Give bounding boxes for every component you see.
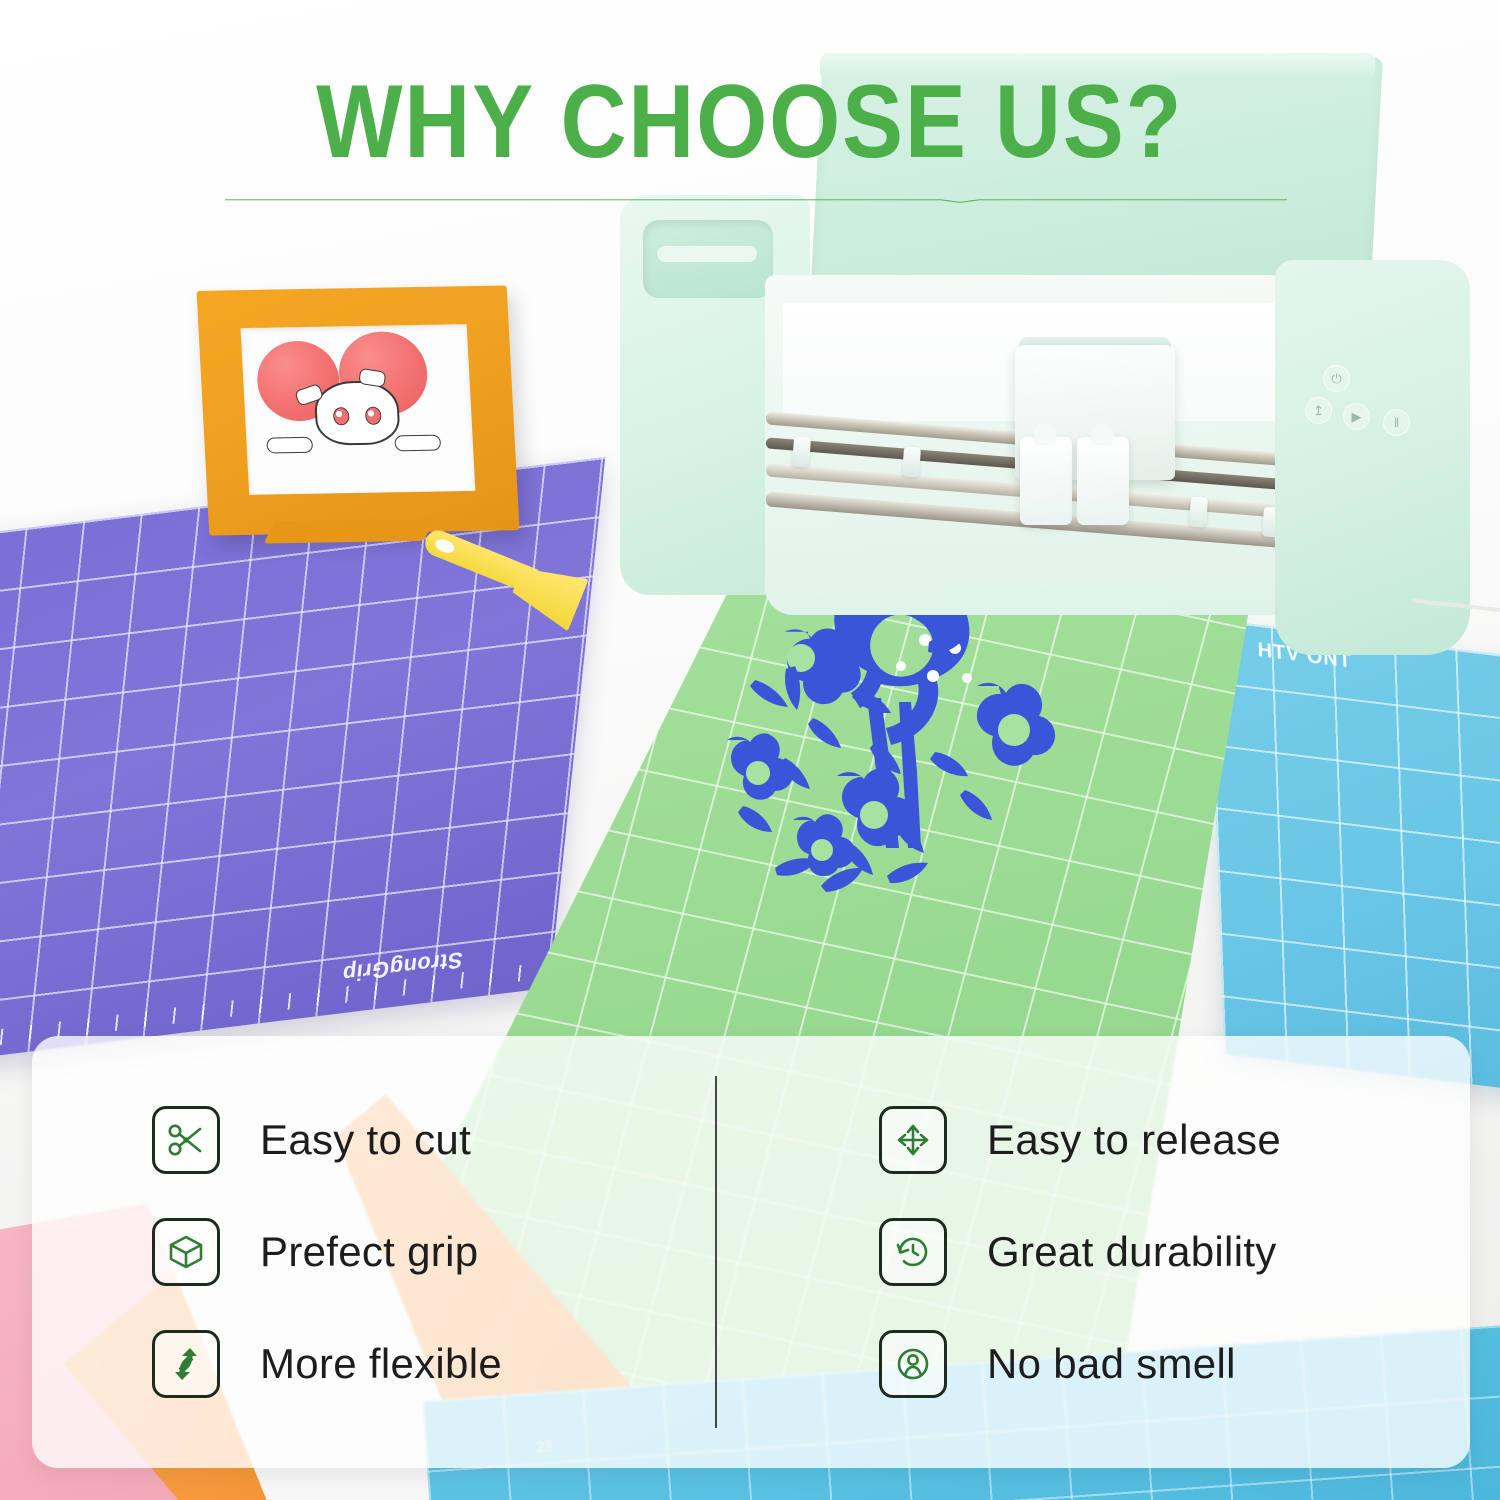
move-arrows-icon [879,1106,947,1174]
machine-handle [643,220,773,298]
hand-left [266,437,313,454]
pause-button[interactable]: ‖ [1383,409,1410,436]
feature-easy-to-cut[interactable]: Easy to cut [152,1106,751,1174]
load-unload-button[interactable]: ↥ [1305,397,1332,424]
product-infographic: StrongGrip HTV ONT HTV ONT StandardGrip [0,0,1500,1500]
history-clock-icon [879,1218,947,1286]
title-underline [225,199,1287,203]
machine-roller [902,446,921,477]
features-column-left: Easy to cut Prefect grip [32,1036,751,1468]
blade-clamp-a [1020,437,1072,525]
feature-more-flexible[interactable]: More flexible [152,1330,751,1398]
girl-face [313,380,400,445]
machine-roller [792,436,811,467]
feature-no-bad-smell[interactable]: No bad smell [879,1330,1470,1398]
power-button[interactable]: ⏻ [1323,365,1350,392]
feature-label: Easy to release [987,1116,1281,1164]
machine-roller [1189,496,1208,527]
features-panel: Easy to cut Prefect grip [32,1036,1470,1468]
feature-easy-to-release[interactable]: Easy to release [879,1106,1470,1174]
feature-label: No bad smell [987,1340,1236,1388]
features-column-right: Easy to release Great durability [751,1036,1470,1468]
orange-picture-frame [197,285,520,535]
box-icon [152,1218,220,1286]
page-title: WHY CHOOSE US? [316,70,1183,174]
feature-label: Great durability [987,1228,1277,1276]
feature-label: Prefect grip [260,1228,478,1276]
feature-great-durability[interactable]: Great durability [879,1218,1470,1286]
play-button[interactable]: ▶ [1343,403,1370,430]
eye-left [333,407,350,425]
flexible-arrows-icon [152,1330,220,1398]
frame-stand [263,519,435,544]
blade-clamp-b [1077,437,1129,525]
feature-prefect-grip[interactable]: Prefect grip [152,1218,751,1286]
machine-control-panel: ⏻ ↥ ▶ ‖ [1305,365,1435,455]
scissors-icon [152,1106,220,1174]
person-icon [879,1330,947,1398]
page-title-wrap: WHY CHOOSE US? [0,70,1500,174]
clamp-knob [1034,423,1056,445]
feature-label: Easy to cut [260,1116,471,1164]
frame-artwork [241,324,476,495]
feature-label: More flexible [260,1340,502,1388]
eye-right [365,407,382,425]
clamp-knob [1091,423,1113,445]
hand-right [394,435,441,452]
